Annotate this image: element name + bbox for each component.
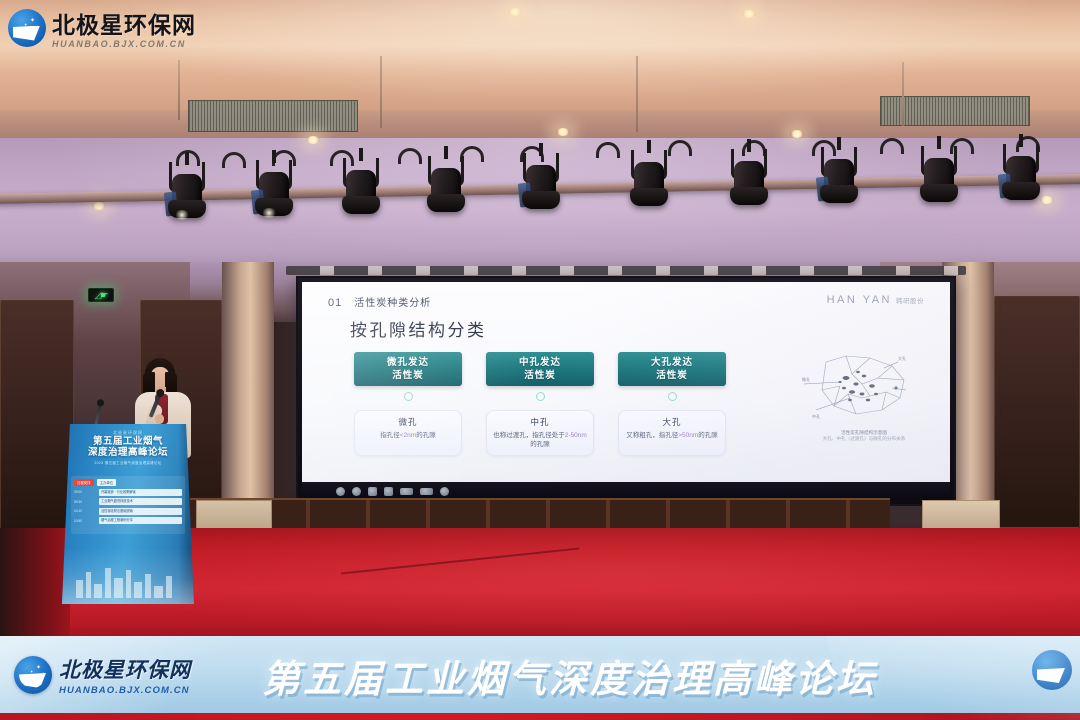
ceiling-downlight	[1040, 196, 1054, 204]
category-pill-micropore: 微孔发达 活性炭	[354, 352, 462, 386]
grid-view-icon[interactable]	[420, 488, 433, 495]
agenda-time: 10:10	[74, 509, 96, 513]
exit-running-man-icon: ◿☛	[95, 290, 108, 301]
slide-section-header: 01 活性炭种类分析	[328, 294, 431, 309]
connector-dot-icon	[536, 392, 545, 401]
pore-structure-figure: 微孔 中孔 大孔 活性炭孔隙结构示意图 大孔、中孔（过渡孔）与微孔的分布关系	[800, 348, 928, 440]
agenda-tag-main: 日程安排	[74, 479, 94, 486]
pill-line-1: 中孔发达	[519, 356, 561, 369]
agenda-row: 10:10 活性炭吸附法脱硫脱硝	[74, 508, 182, 515]
agenda-item: 烟气治理工程案例分享	[99, 517, 182, 524]
agenda-time: 10:50	[74, 519, 96, 523]
card-body: 指孔径<2nm的孔隙	[380, 431, 435, 440]
podium-agenda-panel: 日程安排 主办单位 09:00 开幕致辞 · 行业政策解读 09:30 工业烟气…	[71, 476, 185, 534]
brand-name-en: HAN YAN	[827, 294, 892, 306]
speaker-hand	[155, 414, 164, 424]
presentation-slide: 01 活性炭种类分析 HAN YAN 韩研股份 按孔隙结构分类 微孔发达 活性炭…	[302, 282, 950, 482]
speaker-podium: 北极星环保网 第五届工业烟气 深度治理高峰论坛 2023 第五届工业烟气深度治理…	[62, 424, 194, 604]
connector-dot-icon	[668, 392, 677, 401]
banner-forum-title: 第五届工业烟气深度治理高峰论坛	[262, 648, 877, 703]
bjx-globe-logo-icon-right	[1032, 650, 1072, 690]
slide-view-icon[interactable]	[400, 488, 413, 495]
card-body: 又称粗孔，指孔径>50nm的孔隙	[626, 431, 718, 440]
slide-section-title: 活性炭种类分析	[354, 294, 431, 309]
stage-floor-shadow-left	[0, 528, 70, 640]
watermark-text-en: HUANBAO.BJX.COM.CN	[52, 39, 196, 49]
slide-company-logo: HAN YAN 韩研股份	[827, 294, 924, 306]
connector-dot-row	[354, 392, 726, 401]
bjx-globe-logo-icon: ✦ ✦ ✦	[14, 656, 52, 694]
agenda-row: 09:30 工业烟气超低排放技术	[74, 498, 182, 505]
pill-line-2: 活性炭	[524, 369, 556, 382]
banner-logo-cn: 北极星环保网	[59, 654, 191, 684]
watermark-text-cn: 北极星环保网	[52, 6, 196, 40]
agenda-header: 日程安排 主办单位	[74, 479, 182, 486]
conference-hall-photo: ◿☛ 01 活性炭种类分析 HAN YAN 韩研股份 按孔隙结构分类 微孔发达 …	[0, 0, 1080, 720]
settings-icon[interactable]	[352, 487, 361, 496]
figure-caption-line-2: 大孔、中孔（过渡孔）与微孔的分布关系	[800, 436, 928, 442]
category-pill-mesopore: 中孔发达 活性炭	[486, 352, 594, 386]
agenda-row: 10:50 烟气治理工程案例分享	[74, 517, 182, 524]
emergency-exit-sign: ◿☛	[88, 288, 114, 302]
podium-sign: 北极星环保网 第五届工业烟气 深度治理高峰论坛 2023 第五届工业烟气深度治理…	[74, 430, 182, 465]
slide-title: 按孔隙结构分类	[350, 316, 487, 341]
podium-title-line-2: 深度治理高峰论坛	[74, 447, 182, 458]
agenda-time: 09:30	[74, 500, 96, 504]
screen-mount-rail	[286, 266, 966, 275]
bottom-event-banner: ✦ ✦ ✦ 北极星环保网 HUANBAO.BJX.COM.CN 第五届工业烟气深…	[0, 636, 1080, 720]
ceiling-downlight	[508, 8, 522, 16]
ceiling-downlight	[306, 136, 320, 144]
definition-card-micropore: 微孔 指孔径<2nm的孔隙	[354, 410, 462, 456]
svg-text:大孔: 大孔	[898, 355, 906, 361]
card-title: 中孔	[530, 416, 549, 428]
truss-drop-rod	[380, 56, 382, 128]
truss-drop-rod	[902, 62, 904, 126]
bjx-globe-logo-icon-watermark: ✦ ✦ ✦	[8, 9, 46, 47]
agenda-item: 工业烟气超低排放技术	[99, 498, 182, 505]
projection-screen: 01 活性炭种类分析 HAN YAN 韩研股份 按孔隙结构分类 微孔发达 活性炭…	[296, 276, 956, 506]
ceiling-downlight	[92, 202, 106, 210]
ceiling-downlight	[556, 128, 570, 136]
podium-subtitle: 2023 第五届工业烟气深度治理高峰论坛	[74, 460, 182, 465]
podium-title-line-1: 第五届工业烟气	[74, 436, 182, 447]
card-title: 大孔	[662, 416, 681, 428]
slide-section-number: 01	[328, 297, 342, 309]
truss-drop-rod	[636, 56, 638, 132]
banner-logo-en: HUANBAO.BJX.COM.CN	[59, 685, 191, 696]
figure-caption: 活性炭孔隙结构示意图 大孔、中孔（过渡孔）与微孔的分布关系	[800, 430, 928, 442]
connector-dot-icon	[404, 392, 413, 401]
brand-name-cn: 韩研股份	[896, 295, 924, 305]
svg-text:中孔: 中孔	[812, 413, 820, 419]
definition-card-mesopore: 中孔 也称过渡孔，指孔径处于2-50nm的孔隙	[486, 410, 594, 456]
card-title: 微孔	[398, 416, 417, 428]
definition-card-macropore: 大孔 又称粗孔，指孔径>50nm的孔隙	[618, 410, 726, 456]
svg-text:微孔: 微孔	[802, 376, 810, 382]
pen-icon[interactable]	[368, 487, 377, 496]
category-pill-macropore: 大孔发达 活性炭	[618, 352, 726, 386]
definition-card-row: 微孔 指孔径<2nm的孔隙 中孔 也称过渡孔，指孔径处于2-50nm的孔隙 大孔…	[354, 410, 726, 456]
banner-red-strip	[0, 713, 1080, 720]
category-pill-row: 微孔发达 活性炭 中孔发达 活性炭 大孔发达 活性炭	[354, 352, 726, 386]
ceiling-downlight	[742, 10, 756, 18]
pointer-icon[interactable]	[384, 487, 393, 496]
truss-drop-rod	[178, 60, 180, 120]
card-body: 也称过渡孔，指孔径处于2-50nm的孔隙	[493, 431, 587, 449]
pill-line-2: 活性炭	[392, 369, 424, 382]
play-icon[interactable]	[336, 487, 345, 496]
pore-structure-drawing-icon: 微孔 中孔 大孔	[800, 348, 928, 426]
agenda-item: 活性炭吸附法脱硫脱硝	[99, 508, 182, 515]
agenda-row: 09:00 开幕致辞 · 行业政策解读	[74, 489, 182, 496]
ceiling-downlight	[790, 130, 804, 138]
agenda-item: 开幕致辞 · 行业政策解读	[99, 489, 182, 496]
banner-site-logo: ✦ ✦ ✦ 北极星环保网 HUANBAO.BJX.COM.CN	[14, 654, 191, 696]
pill-line-1: 大孔发达	[651, 356, 693, 369]
agenda-time: 09:00	[74, 490, 96, 494]
agenda-tag-alt: 主办单位	[97, 479, 117, 486]
pill-line-2: 活性炭	[656, 369, 688, 382]
stage-back-wood-paneling	[190, 498, 890, 528]
more-icon[interactable]	[440, 487, 449, 496]
hall-door-right	[994, 296, 1080, 528]
pill-line-1: 微孔发达	[387, 356, 429, 369]
podium-skyline-graphic	[62, 548, 194, 604]
hall-door-left	[0, 300, 74, 530]
top-left-watermark: ✦ ✦ ✦ 北极星环保网 HUANBAO.BJX.COM.CN	[8, 6, 196, 49]
ceiling-vent-left	[188, 100, 358, 132]
